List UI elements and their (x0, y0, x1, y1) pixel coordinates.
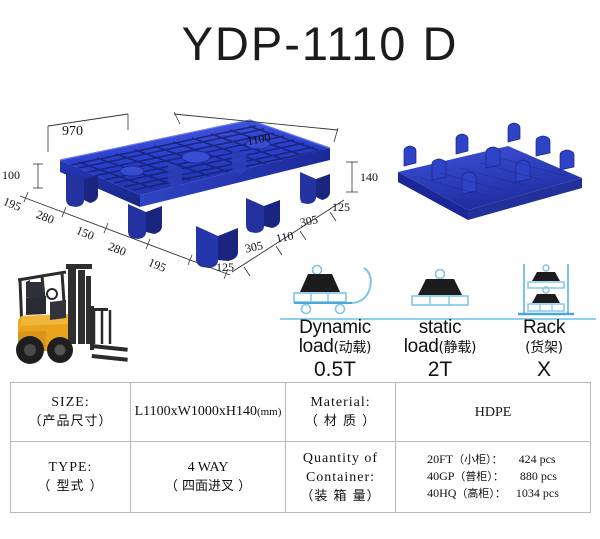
static-load-pallet-icon (388, 262, 492, 318)
container-40hq-unit: pcs (543, 486, 559, 500)
dynamic-load-spec: Dynamic load(动载) 0.5T (280, 262, 390, 381)
dim-125-b: 125 (332, 200, 350, 215)
size-value-cell: L1100xW1000xH140(mm) (131, 383, 286, 442)
quantity-label-cn: （装 箱 量） (288, 487, 393, 506)
dim-125-a: 125 (216, 260, 234, 275)
type-value-cell: 4 WAY （ 四面进叉 ） (131, 442, 286, 513)
rack-load-label-cn: (货架) (525, 340, 563, 356)
dim-140: 140 (360, 170, 378, 185)
container-40hq-cn: （高柜）： (456, 487, 506, 500)
static-load-label-en: static (419, 317, 462, 338)
type-label-en: TYPE: (13, 458, 128, 477)
type-value-en: 4 WAY (133, 458, 283, 477)
table-row-size: SIZE: （产品尺寸） L1100xW1000xH140(mm) Materi… (11, 383, 591, 442)
load-capacity-specs: Dynamic load(动载) 0.5T static load(静载) 2T (280, 262, 596, 374)
rack-load-shelf-icon (492, 262, 596, 318)
container-20ft-count: 424 (503, 451, 537, 467)
size-label-cell: SIZE: （产品尺寸） (11, 383, 131, 442)
quantity-row-40gp: 40GP（普柜）：880 pcs (427, 468, 559, 485)
material-label-cn: （ 材 质 ） (288, 412, 393, 431)
pallet-side-view (398, 123, 582, 220)
static-load-value: 2T (388, 359, 492, 381)
type-value-cn: （ 四面进叉 ） (133, 477, 283, 496)
static-load-label-cn: (静载) (439, 340, 477, 356)
size-value: L1100xW1000xH140 (135, 404, 257, 419)
quantity-label-cell: Quantity of Container: （装 箱 量） (286, 442, 396, 513)
type-label-cn: （ 型式 ） (13, 477, 128, 496)
quantity-row-40hq: 40HQ（高柜）：1034 pcs (427, 485, 559, 502)
dynamic-load-value: 0.5T (280, 359, 390, 381)
container-40hq-code: 40HQ (427, 486, 456, 500)
size-label-cn: （产品尺寸） (13, 412, 128, 431)
material-value-cell: HDPE (396, 383, 591, 442)
dynamic-load-pallet-truck-icon (280, 262, 390, 318)
container-40gp-cn: （普柜）： (454, 470, 504, 483)
container-20ft-cn: （小柜）： (453, 453, 503, 466)
size-value-unit: (mm) (257, 406, 281, 418)
container-40hq-count: 1034 (506, 485, 540, 501)
container-20ft-code: 20FT (427, 452, 453, 466)
dim-970: 970 (62, 124, 83, 140)
container-40gp-code: 40GP (427, 469, 454, 483)
quantity-value-cell: 20FT（小柜）：424 pcs 40GP（普柜）：880 pcs 40HQ（高… (396, 442, 591, 513)
container-40gp-count: 880 (504, 468, 538, 484)
table-row-type: TYPE: （ 型式 ） 4 WAY （ 四面进叉 ） Quantity of … (11, 442, 591, 513)
rack-load-spec: Rack (货架) X (492, 262, 596, 381)
container-20ft-unit: pcs (540, 452, 556, 466)
dynamic-load-label-cn: (动载) (334, 340, 372, 356)
static-load-label-en2: load (404, 336, 439, 357)
static-load-spec: static load(静载) 2T (388, 262, 492, 381)
dynamic-load-label-en2: load (299, 336, 334, 357)
quantity-row-20ft: 20FT（小柜）：424 pcs (427, 451, 559, 468)
rack-load-label-en: Rack (523, 317, 565, 338)
technical-drawing: 970 1100 100 140 195 280 150 125 305 110… (0, 100, 600, 280)
container-40gp-unit: pcs (541, 469, 557, 483)
dynamic-load-label-en: Dynamic (299, 317, 371, 338)
rack-load-value: X (492, 359, 596, 381)
page-title: YDP-1110 D (0, 16, 600, 71)
forklift-illustration (6, 258, 134, 376)
quantity-label-en2: Container: (288, 468, 393, 487)
pallet-drawing-svg (0, 100, 600, 280)
dim-100: 100 (2, 168, 20, 183)
quantity-label-en1: Quantity of (288, 449, 393, 468)
specification-table: SIZE: （产品尺寸） L1100xW1000xH140(mm) Materi… (10, 382, 591, 513)
material-label-en: Material: (288, 393, 393, 412)
forklift-photo (6, 258, 134, 376)
material-label-cell: Material: （ 材 质 ） (286, 383, 396, 442)
size-label-en: SIZE: (13, 393, 128, 412)
type-label-cell: TYPE: （ 型式 ） (11, 442, 131, 513)
